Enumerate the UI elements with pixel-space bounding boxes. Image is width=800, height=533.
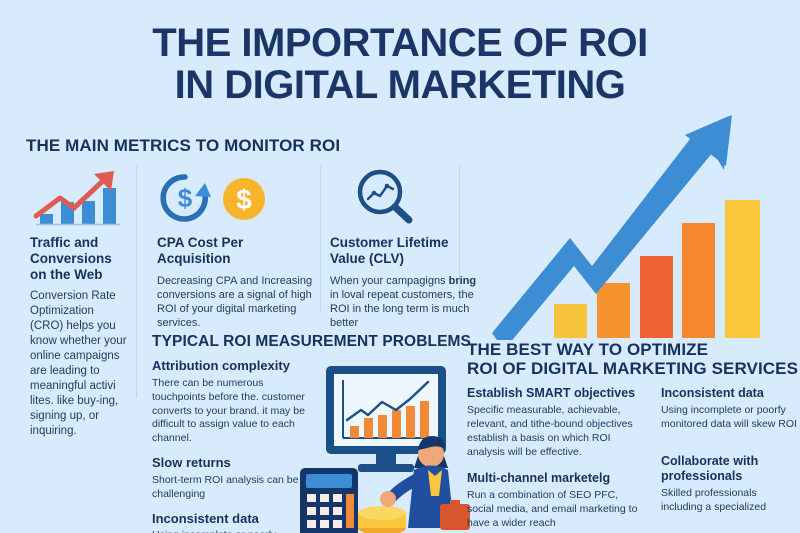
optimize-body: Run a combination of SEO PFC, social med…	[467, 489, 647, 531]
infographic-page: THE IMPORTANCE OF ROI IN DIGITAL MARKETI…	[0, 0, 800, 533]
metric-title: Customer Lifetime Value (CLV)	[330, 235, 485, 267]
problem-title: Slow returns	[152, 455, 312, 471]
metric-body: Conversion Rate Optimization (CRO) helps…	[30, 289, 130, 438]
optimize-title: Collaborate with professionals	[661, 454, 797, 484]
bar-chart-up-icon	[30, 168, 122, 226]
optimize-section-heading: THE BEST WAY TO OPTIMIZE ROI OF DIGITAL …	[467, 340, 798, 379]
metric-card-clv: Customer Lifetime Value (CLV) When your …	[330, 168, 485, 331]
optimize-title: Multi-channel marketelg	[467, 471, 647, 486]
problem-body: Using incomplete or poorly	[152, 529, 312, 533]
briefcase-icon	[440, 504, 470, 530]
optimize-heading-line-1: THE BEST WAY TO OPTIMIZE	[467, 340, 798, 359]
problem-title: Attribution complexity	[152, 358, 312, 374]
optimize-item: Inconsistent data Using incomplete or po…	[661, 386, 797, 432]
optimize-body: Specific measurable, achievable, relevan…	[467, 404, 647, 460]
metric-body-post: in loval repeat customers, the ROI in th…	[330, 289, 474, 330]
title-line-2: IN DIGITAL MARKETING	[0, 64, 800, 106]
dollar-refresh-icon: $	[157, 170, 213, 226]
coin-stack-icon	[358, 506, 406, 533]
metrics-section-heading: THE MAIN METRICS TO MONITOR ROI	[26, 136, 340, 155]
hero-bar-2	[597, 283, 630, 338]
metric-body: When your campagigns bring in loval repe…	[330, 274, 485, 331]
page-title: THE IMPORTANCE OF ROI IN DIGITAL MARKETI…	[0, 22, 800, 107]
metric-icon-wrap	[330, 168, 485, 226]
optimize-title: Inconsistent data	[661, 386, 797, 401]
optimize-body: Skilled professionals including a specia…	[661, 487, 797, 515]
optimize-item: Establish SMART objectives Specific meas…	[467, 386, 647, 460]
optimize-heading-line-2: ROI OF DIGITAL MARKETING SERVICES	[467, 359, 798, 378]
problem-body: Short-term ROI analysis can be challengi…	[152, 474, 312, 502]
optimize-title: Establish SMART objectives	[467, 386, 647, 401]
problems-section-heading: TYPICAL ROI MEASUREMENT PROBLEMS	[152, 333, 471, 351]
divider-vertical-2	[320, 166, 321, 311]
problem-body: There can be numerous touchpoints before…	[152, 377, 312, 447]
metric-icon-wrap	[30, 168, 130, 226]
optimize-body: Using incomplete or poorfy monitored dat…	[661, 404, 797, 432]
optimize-column-left: Establish SMART objectives Specific meas…	[467, 386, 647, 533]
metric-body-bold: bring	[449, 275, 477, 287]
office-illustration-svg	[300, 358, 480, 533]
optimize-item: Collaborate with professionals Skilled p…	[661, 454, 797, 515]
magnifier-chart-icon	[354, 168, 416, 226]
metric-icon-wrap: $ $	[157, 168, 315, 226]
problem-item: Attribution complexity There can be nume…	[152, 358, 312, 446]
metric-body-pre: When your campagigns	[330, 275, 449, 287]
hero-bar-5	[725, 200, 760, 338]
optimize-column-right: Inconsistent data Using incomplete or po…	[661, 386, 797, 526]
hero-bar-1	[554, 304, 587, 338]
metric-body: Decreasing CPA and Increasing conversion…	[157, 274, 315, 331]
metric-card-cpa: $ $ CPA Cost Per Acquisition Decreasing …	[157, 168, 315, 331]
hero-bar-3	[640, 256, 673, 338]
dollar-coin-icon: $	[221, 176, 267, 222]
svg-text:$: $	[236, 184, 252, 215]
hero-bar-4	[682, 223, 715, 338]
optimize-item: Multi-channel marketelg Run a combinatio…	[467, 471, 647, 531]
metric-card-traffic: Traffic and Conversions on the Web Conve…	[30, 168, 130, 439]
problems-list: Attribution complexity There can be nume…	[152, 358, 312, 533]
problem-item: Inconsistent data Using incomplete or po…	[152, 511, 312, 533]
growth-chart-svg	[492, 108, 800, 340]
metric-title: Traffic and Conversions on the Web	[30, 235, 130, 282]
svg-text:$: $	[178, 183, 193, 213]
growth-chart-illustration	[492, 108, 800, 340]
office-illustration	[300, 358, 480, 533]
problem-item: Slow returns Short-term ROI analysis can…	[152, 455, 312, 502]
problem-title: Inconsistent data	[152, 511, 312, 527]
metric-title: CPA Cost Per Acquisition	[157, 235, 315, 267]
title-line-1: THE IMPORTANCE OF ROI	[0, 22, 800, 64]
divider-vertical-1	[136, 166, 137, 398]
